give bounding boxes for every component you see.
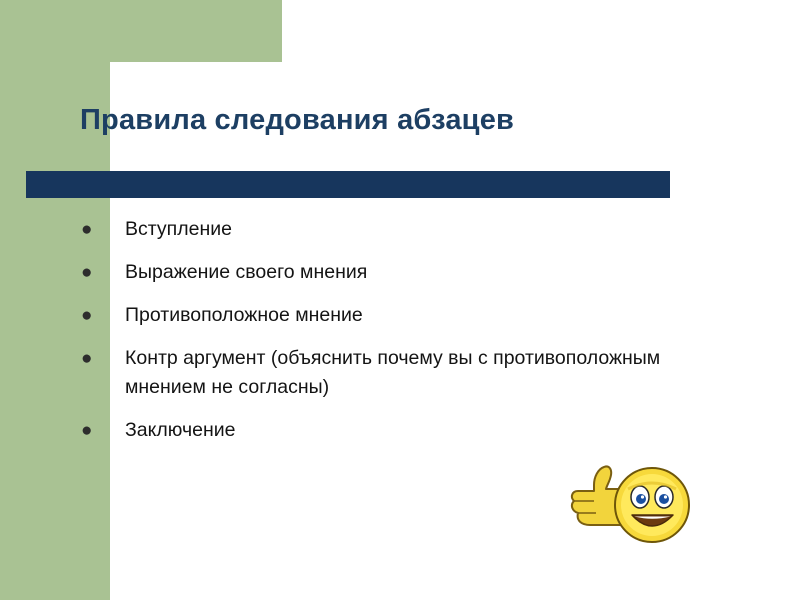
list-item-label: Выражение своего мнения (125, 258, 367, 287)
list-item-label: Противоположное мнение (125, 301, 363, 330)
bullet-point-icon: ● (78, 416, 125, 445)
slide-title: Правила следования абзацев (80, 103, 740, 138)
list-item-label: Контр аргумент (объяснить почему вы с пр… (125, 344, 745, 402)
list-item-label: Заключение (125, 416, 235, 445)
slide: Правила следования абзацев ● Вступление … (0, 0, 800, 600)
title-underline-bar (26, 171, 670, 198)
list-item: ● Вступление (78, 215, 758, 244)
list-item-label: Вступление (125, 215, 232, 244)
smiley-thumbs-up-emoji (560, 455, 695, 555)
bullet-point-icon: ● (78, 215, 125, 244)
list-item: ● Выражение своего мнения (78, 258, 758, 287)
bullet-list: ● Вступление ● Выражение своего мнения ●… (78, 215, 758, 459)
list-item: ● Заключение (78, 416, 758, 445)
bullet-point-icon: ● (78, 258, 125, 287)
bullet-point-icon: ● (78, 301, 125, 330)
bullet-point-icon: ● (78, 344, 125, 373)
list-item: ● Противоположное мнение (78, 301, 758, 330)
green-decoration-top (0, 0, 282, 62)
list-item: ● Контр аргумент (объяснить почему вы с … (78, 344, 758, 402)
